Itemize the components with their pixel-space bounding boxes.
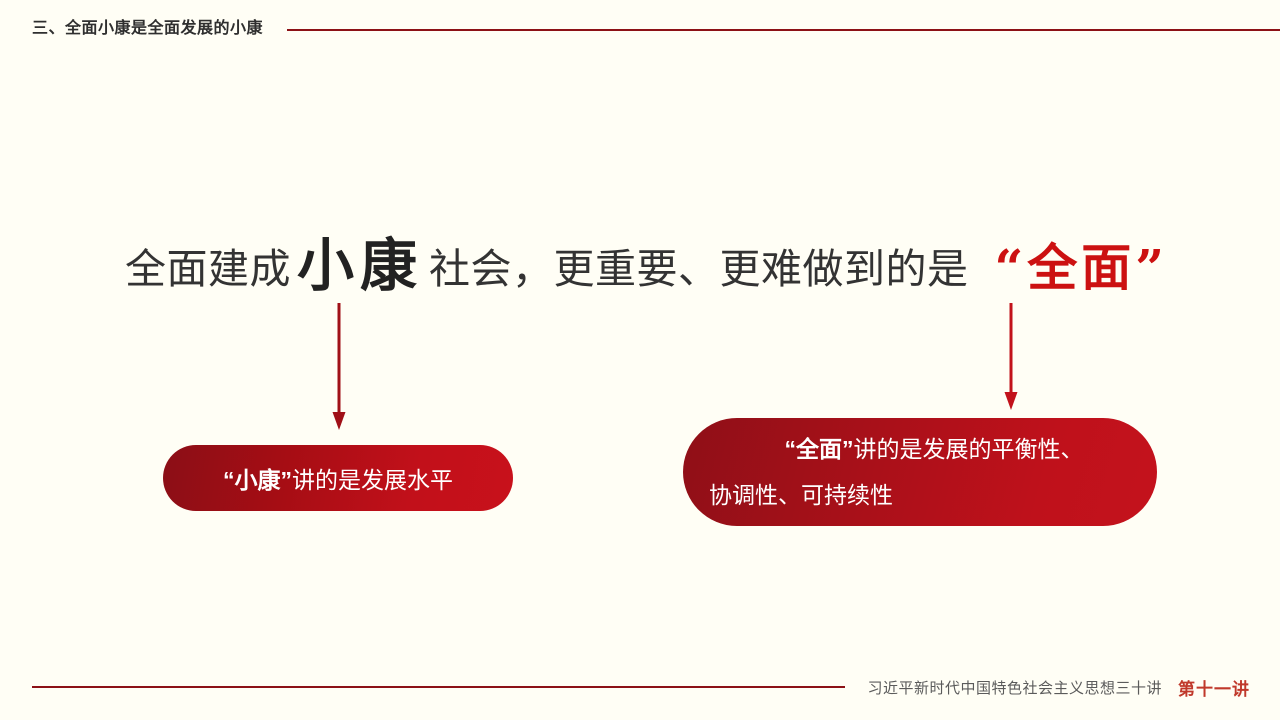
footer-lecture-number: 第十一讲: [1178, 675, 1250, 700]
slide-header: 三、全面小康是全面发展的小康: [32, 14, 1280, 44]
callout-pill-right[interactable]: “全面”讲的是发展的平衡性、 协调性、可持续性: [683, 418, 1157, 526]
header-divider: [287, 29, 1280, 31]
callout-right-emphasis: “全面”: [785, 436, 854, 462]
callout-right-line-1-rest: 讲的是发展的平衡性、: [854, 436, 1084, 462]
footer-series-title: 习近平新时代中国特色社会主义思想三十讲: [867, 677, 1162, 698]
callout-right-line-2: 协调性、可持续性: [709, 472, 1133, 518]
callout-pill-left[interactable]: “小康”讲的是发展水平: [163, 445, 513, 511]
arrow-left-icon: [325, 300, 353, 432]
headline-emphasis: 小康: [291, 220, 429, 302]
callout-left-text: “小康”讲的是发展水平: [223, 461, 453, 495]
footer-divider: [32, 686, 845, 688]
headline-part-1: 全面建成: [125, 235, 291, 295]
slide-canvas: 三、全面小康是全面发展的小康 全面建成 小康 社会，更重要、更难做到的是 “全面…: [0, 0, 1280, 720]
callout-right-text: “全面”讲的是发展的平衡性、 协调性、可持续性: [709, 426, 1133, 518]
callout-left-emphasis: “小康”: [223, 467, 292, 493]
headline-part-2: 社会，更重要、更难做到的是: [429, 235, 969, 295]
page-title: 三、全面小康是全面发展的小康: [32, 21, 263, 37]
headline-red-phrase: “全面”: [995, 228, 1169, 300]
arrow-right-icon: [997, 300, 1025, 412]
slide-footer: 习近平新时代中国特色社会主义思想三十讲 第十一讲: [32, 670, 1250, 704]
callout-right-line-1: “全面”讲的是发展的平衡性、: [709, 426, 1133, 472]
headline: 全面建成 小康 社会，更重要、更难做到的是 “全面”: [125, 218, 1165, 302]
callout-left-rest: 讲的是发展水平: [292, 467, 453, 493]
